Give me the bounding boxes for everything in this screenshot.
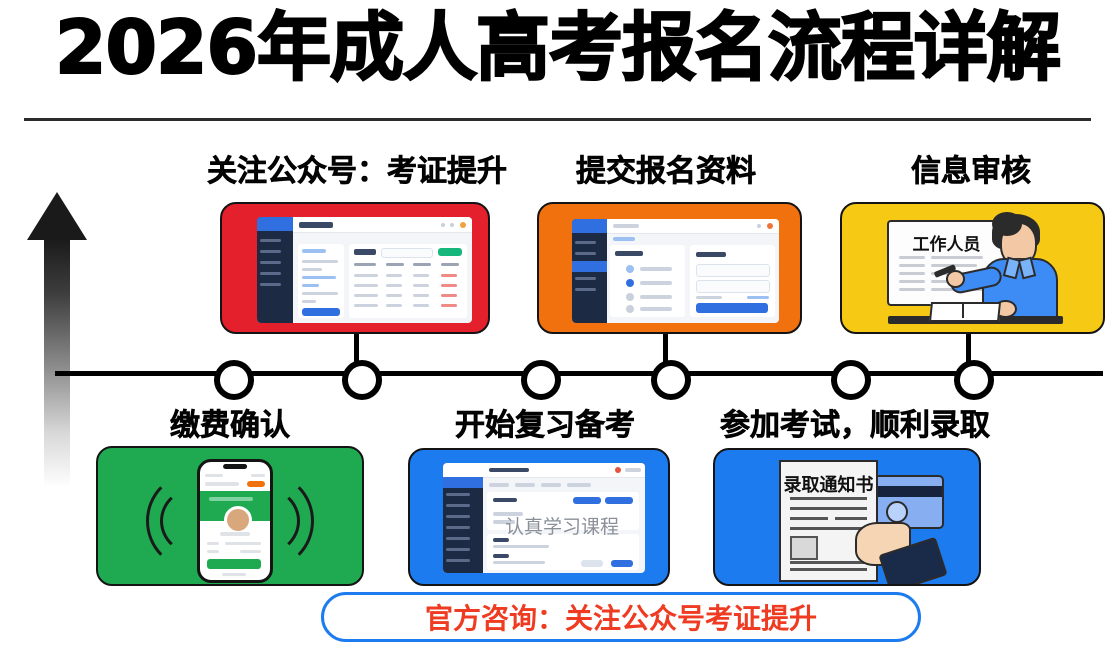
person-hair-bun	[992, 212, 1022, 236]
mock-text-line	[302, 260, 338, 263]
mock-col-header	[386, 263, 404, 266]
mock-logo	[572, 219, 607, 233]
phone-header-text	[209, 497, 253, 501]
mock-tab[interactable]	[567, 483, 591, 487]
form-mock-2	[572, 219, 779, 323]
step-card-top-3[interactable]: 工作人员	[840, 202, 1105, 334]
mock-text-line	[302, 276, 336, 279]
mock-cell	[386, 294, 402, 297]
mock-text-line	[302, 268, 322, 271]
course-overlay-text: 认真学习课程	[505, 512, 619, 539]
mock-username	[625, 468, 641, 472]
phone-username	[220, 532, 250, 536]
mock-cell	[354, 294, 378, 297]
mock-page-title	[299, 222, 333, 228]
step-card-bottom-2[interactable]: 认真学习课程	[408, 448, 670, 586]
mock-cell-status	[441, 304, 457, 307]
timeline-node-4[interactable]	[651, 360, 691, 400]
mock-option-label	[640, 295, 672, 299]
mock-cell	[413, 284, 429, 287]
mock-action-button[interactable]	[438, 248, 462, 256]
phone-field-value	[240, 550, 261, 553]
mock-sidebar	[257, 217, 293, 323]
mock-logo	[257, 217, 293, 231]
mock-cell	[386, 284, 402, 287]
mock-avatar	[767, 223, 773, 229]
bank-card-chip	[886, 501, 908, 523]
growth-arrow	[22, 192, 92, 492]
letter-line	[790, 561, 867, 564]
mock-cell-status	[441, 284, 457, 287]
mock-icon	[450, 223, 454, 227]
mock-nav-item	[260, 261, 282, 264]
board-text-line	[899, 256, 925, 259]
mock-nav-item-active[interactable]	[572, 261, 607, 272]
step-label-top-1: 关注公众号：考证提升	[173, 146, 541, 190]
cta-label: 官方咨询：关注公众号考证提升	[425, 597, 817, 637]
mock-option-icon	[626, 279, 634, 287]
mock-nav-item	[260, 283, 282, 286]
mock-nav-item	[575, 252, 596, 255]
mock-breadcrumb	[613, 224, 639, 228]
mock-tab[interactable]	[541, 483, 561, 487]
mock-option-label	[640, 267, 672, 271]
mock-titlebar	[293, 217, 472, 233]
mock-cell	[354, 304, 378, 307]
mock-option-label	[640, 281, 672, 285]
board-text-line	[931, 256, 983, 259]
mock-icon	[757, 224, 761, 228]
letter-line	[835, 517, 867, 520]
mock-nav-item	[446, 537, 470, 540]
mock-text-input-2[interactable]	[696, 280, 770, 293]
mock-card-button-1[interactable]	[573, 497, 601, 504]
step-label-bottom-2: 开始复习备考	[420, 400, 670, 444]
step-card-bottom-1[interactable]	[96, 446, 364, 586]
mock-option-icon	[626, 265, 634, 273]
phone-field-value	[225, 542, 261, 545]
mock-titlebar	[607, 219, 779, 234]
infographic-canvas: 2026年成人高考报名流程详解 关注公众号：考证提升 提交报名资料 信息审核	[0, 0, 1115, 652]
mock-text-line	[302, 292, 338, 295]
letter-line	[790, 568, 867, 571]
mock-sidebar	[443, 463, 483, 573]
mock-item-desc	[493, 545, 549, 548]
mock-table-title	[354, 249, 376, 255]
mock-cell	[413, 304, 429, 307]
timeline-node-6[interactable]	[954, 360, 994, 400]
timeline-stem-6	[966, 333, 971, 363]
timeline-node-5[interactable]	[831, 360, 871, 400]
dashboard-mock-1	[257, 217, 472, 323]
mock-card-title	[493, 498, 517, 502]
phone-field-label	[207, 542, 219, 545]
board-text-line	[899, 288, 925, 291]
mock-submit-button[interactable]	[696, 303, 768, 313]
staff-board-title: 工作人员	[889, 230, 1004, 255]
timeline-stem-4	[663, 333, 668, 363]
timeline-stem-2	[354, 333, 359, 363]
mock-cell	[354, 274, 378, 277]
mock-primary-button[interactable]	[302, 308, 340, 316]
mock-nav-item	[446, 559, 470, 562]
step-card-top-1[interactable]	[220, 202, 490, 334]
mock-nav-item	[446, 515, 470, 518]
mock-sidebar	[572, 219, 607, 323]
step-label-top-3: 信息审核	[880, 146, 1062, 190]
step-label-bottom-3: 参加考试，顺利录取	[690, 400, 1020, 444]
mock-item-title	[493, 554, 509, 558]
phone-field-label	[207, 550, 219, 553]
mock-avatar	[615, 467, 621, 473]
bank-card	[870, 475, 944, 529]
mock-avatar	[460, 222, 466, 228]
mock-icon	[441, 223, 445, 227]
letter-seal-box	[790, 536, 818, 560]
mock-form-pane	[690, 245, 775, 317]
step-label-bottom-1: 缴费确认	[145, 400, 315, 444]
mock-nav-item	[575, 277, 596, 280]
mock-cell-status	[441, 274, 457, 277]
mock-nav-item	[446, 526, 470, 529]
mock-text-line	[302, 300, 316, 303]
timeline-node-1[interactable]	[214, 360, 254, 400]
phone-statusbar	[205, 474, 223, 477]
book-spine	[962, 303, 964, 318]
mock-nav-item	[575, 241, 596, 244]
mock-text-line	[302, 284, 319, 287]
mock-cell	[413, 294, 429, 297]
mock-nav-item-active[interactable]	[443, 477, 483, 488]
mock-tab[interactable]	[613, 237, 635, 241]
timeline-node-2[interactable]	[342, 360, 382, 400]
phone-device[interactable]	[197, 459, 273, 583]
mock-link[interactable]	[747, 296, 769, 299]
person-hand-left	[946, 270, 965, 288]
board-text-line	[899, 264, 925, 267]
mock-nav-item	[446, 493, 470, 496]
mock-nav-item	[260, 239, 282, 242]
phone-footer-link[interactable]	[222, 573, 246, 576]
phone-pay-button[interactable]	[207, 559, 261, 569]
phone-statusbar-right	[251, 474, 265, 477]
page-title: 2026年成人高考报名流程详解	[0, 10, 1115, 88]
mock-app-title	[489, 468, 529, 472]
mock-cell	[354, 284, 378, 287]
mock-table-pane	[349, 244, 467, 318]
board-text-line	[899, 280, 925, 283]
phone-follow-button[interactable]	[247, 481, 265, 487]
mock-col-header	[354, 263, 376, 266]
letter-line	[790, 497, 867, 500]
mock-option-icon	[626, 305, 634, 313]
mock-option-label	[640, 307, 672, 311]
mock-option-icon	[626, 293, 634, 301]
open-book	[929, 302, 1001, 322]
letter-line	[790, 527, 867, 530]
mock-cell	[413, 274, 429, 277]
phone-notch	[223, 464, 247, 469]
mock-list-card	[487, 534, 639, 570]
step-label-top-2: 提交报名资料	[545, 146, 787, 190]
arrow-shaft	[44, 238, 70, 488]
mock-cell	[386, 304, 402, 307]
step-card-top-2[interactable]	[537, 202, 802, 334]
mock-nav-item	[446, 504, 470, 507]
mock-tab[interactable]	[515, 483, 535, 487]
mock-text-input-1[interactable]	[696, 264, 770, 277]
timeline-node-3[interactable]	[521, 360, 561, 400]
mock-col-header	[441, 263, 459, 266]
phone-nav	[205, 482, 239, 486]
mock-pane-title	[615, 251, 643, 256]
bank-card-strip	[872, 486, 942, 497]
board-text-line	[899, 272, 925, 275]
mock-item-desc	[493, 561, 545, 564]
mock-form-title	[696, 252, 726, 257]
mock-cell	[386, 274, 402, 277]
mock-nav-item	[446, 548, 470, 551]
letter-line	[790, 507, 867, 510]
arrow-head-icon	[27, 192, 87, 240]
mock-col-header	[413, 263, 431, 266]
mock-nav-item	[260, 250, 282, 253]
mock-text-line	[302, 249, 326, 253]
mock-logo-bar	[443, 463, 483, 478]
mock-search-input[interactable]	[381, 248, 433, 258]
mock-titlebar	[483, 463, 645, 478]
mock-list-pane	[610, 245, 685, 317]
step-card-bottom-3[interactable]: 录取通知书	[713, 448, 981, 586]
mock-nav-item	[575, 288, 596, 291]
mock-filter-pane	[298, 244, 344, 318]
phone-avatar	[224, 506, 252, 534]
cta-banner[interactable]: 官方咨询：关注公众号考证提升	[321, 592, 921, 642]
timeline-axis	[55, 371, 1103, 376]
title-divider	[24, 118, 1091, 121]
mock-cancel-button[interactable]	[581, 560, 603, 567]
letter-title: 录取通知书	[781, 471, 876, 497]
mock-card-button-2[interactable]	[605, 497, 633, 504]
mock-confirm-button[interactable]	[611, 560, 633, 567]
mock-nav-item	[260, 272, 282, 275]
mock-cell-status	[441, 294, 457, 297]
letter-line	[790, 517, 828, 520]
mock-tab[interactable]	[489, 483, 509, 487]
mock-helper-text	[696, 296, 722, 299]
